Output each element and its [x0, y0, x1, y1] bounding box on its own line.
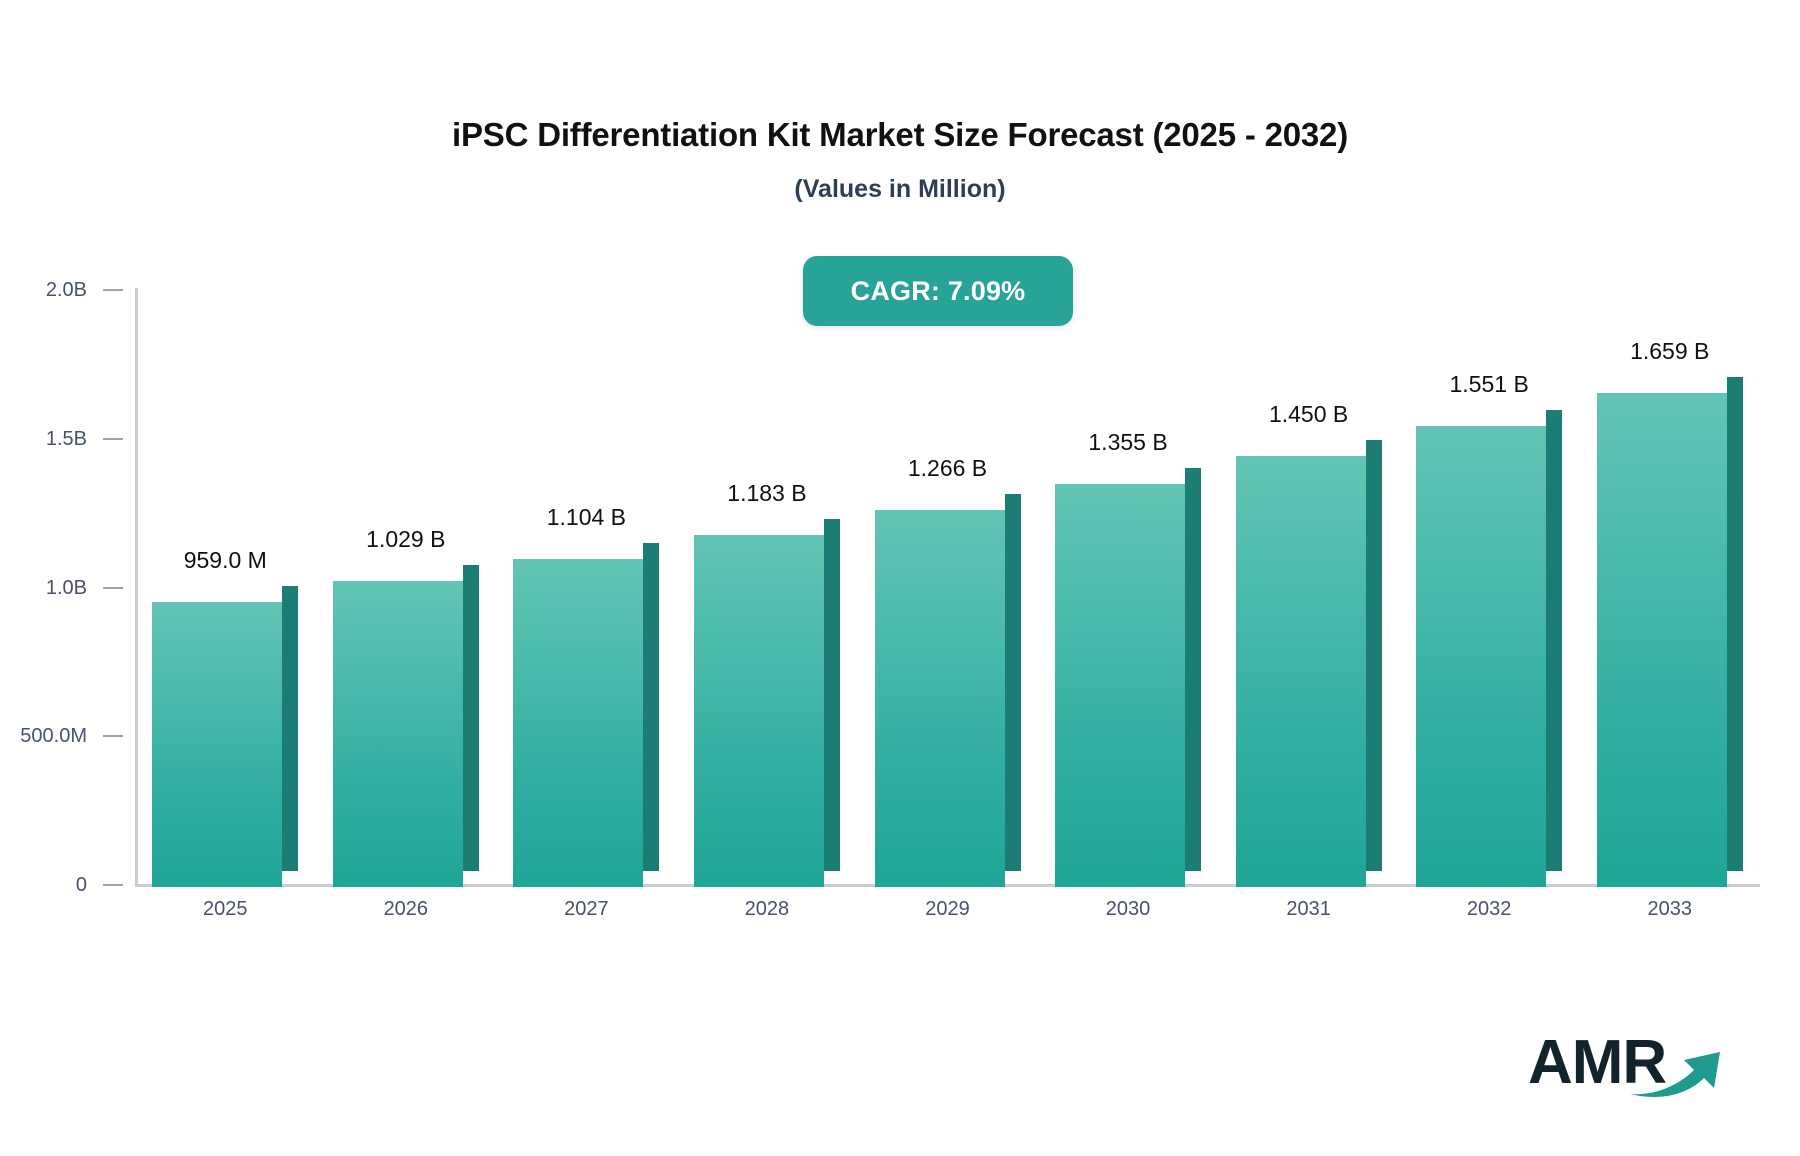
x-axis-label-2028: 2028 — [677, 898, 858, 921]
y-axis-tick: 2.0B — [0, 280, 135, 300]
y-axis-tick-mark — [103, 884, 123, 886]
y-axis-tick-label: 0 — [76, 875, 87, 895]
y-axis-tick-label: 500.0M — [20, 726, 87, 746]
x-axis-label-2029: 2029 — [857, 898, 1038, 921]
bar-side-face — [824, 519, 840, 871]
bar-front-face — [1236, 456, 1366, 887]
bar-value-label: 1.659 B — [1579, 338, 1760, 365]
plot-area: 959.0 M1.029 B1.104 B1.183 B1.266 B1.355… — [135, 285, 1760, 887]
bar-value-label: 1.355 B — [1038, 429, 1219, 456]
chart-subtitle: (Values in Million) — [0, 175, 1800, 204]
bar-side-face — [1005, 494, 1021, 871]
bar-value-label: 1.183 B — [677, 480, 858, 507]
bar-side-face — [1546, 410, 1562, 871]
bar-2028[interactable] — [694, 519, 840, 887]
y-axis-tick-label: 1.0B — [46, 578, 87, 598]
y-axis-tick-mark — [103, 735, 123, 737]
chart-container: iPSC Differentiation Kit Market Size For… — [0, 0, 1800, 1156]
bar-front-face — [333, 581, 463, 887]
bar-2027[interactable] — [513, 543, 659, 887]
bar-value-label: 959.0 M — [135, 547, 316, 574]
bar-front-face — [1055, 484, 1185, 887]
y-axis-tick-mark — [103, 289, 123, 291]
y-axis-tick: 1.5B — [0, 429, 135, 449]
bar-value-label: 1.104 B — [496, 504, 677, 531]
page-title: iPSC Differentiation Kit Market Size For… — [0, 116, 1800, 154]
y-axis-tick-mark — [103, 587, 123, 589]
bar-2026[interactable] — [333, 565, 479, 887]
x-axis-label-2025: 2025 — [135, 898, 316, 921]
y-axis-tick: 500.0M — [0, 726, 135, 746]
bar-front-face — [152, 602, 282, 887]
y-axis-tick-label: 2.0B — [46, 280, 87, 300]
bar-2029[interactable] — [875, 494, 1021, 887]
bar-side-face — [643, 543, 659, 871]
y-axis-tick-mark — [103, 438, 123, 440]
y-axis-tick: 1.0B — [0, 578, 135, 598]
bar-value-label: 1.450 B — [1218, 401, 1399, 428]
bar-side-face — [463, 565, 479, 871]
x-axis-label-2027: 2027 — [496, 898, 677, 921]
bar-front-face — [694, 535, 824, 887]
bar-front-face — [513, 559, 643, 887]
x-axis-label-2033: 2033 — [1579, 898, 1760, 921]
bar-2032[interactable] — [1416, 410, 1562, 887]
growth-arrow-icon — [1628, 1038, 1728, 1100]
bar-side-face — [1727, 377, 1743, 871]
bar-front-face — [1597, 393, 1727, 887]
bar-value-label: 1.266 B — [857, 455, 1038, 482]
bar-2025[interactable] — [152, 586, 298, 887]
x-axis-label-2032: 2032 — [1399, 898, 1580, 921]
y-axis-tick: 0 — [0, 875, 135, 895]
bar-value-label: 1.029 B — [316, 526, 497, 553]
x-axis-label-2026: 2026 — [316, 898, 497, 921]
bar-2030[interactable] — [1055, 468, 1201, 887]
y-axis-tick-label: 1.5B — [46, 429, 87, 449]
bar-value-label: 1.551 B — [1399, 371, 1580, 398]
bar-front-face — [875, 510, 1005, 887]
bar-side-face — [1366, 440, 1382, 871]
amr-logo: AMR — [1528, 1028, 1728, 1106]
bar-2033[interactable] — [1597, 377, 1743, 887]
bar-front-face — [1416, 426, 1546, 887]
x-axis-label-2030: 2030 — [1038, 898, 1219, 921]
bar-2031[interactable] — [1236, 440, 1382, 887]
bar-side-face — [1185, 468, 1201, 871]
bar-side-face — [282, 586, 298, 871]
x-axis-label-2031: 2031 — [1218, 898, 1399, 921]
